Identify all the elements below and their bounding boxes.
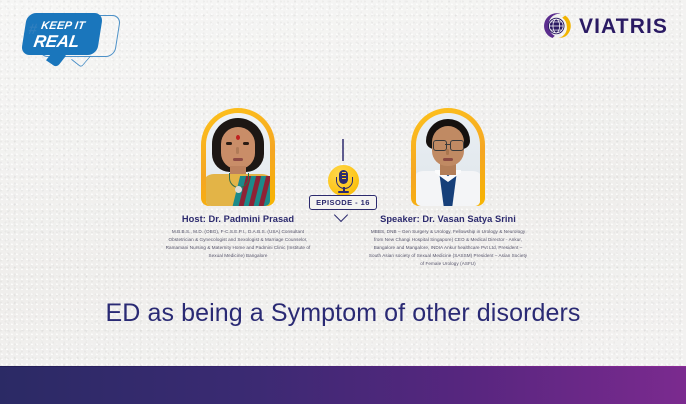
keep-it-real-text: # KEEP IT REAL: [21, 13, 104, 55]
speaker-credentials: MBBS, DNB – Gen Surgery & Urology, Fello…: [368, 228, 528, 267]
speaker-card: Speaker: Dr. Vasan Satya Srini MBBS, DNB…: [358, 108, 538, 268]
speaker-portrait-image: [416, 113, 480, 206]
keep-it-real-logo: # KEEP IT REAL: [16, 10, 126, 66]
speaker-photo: [411, 108, 485, 206]
microphone-base-icon: [338, 191, 349, 193]
presentation-slide: # KEEP IT REAL VIATRIS: [0, 0, 686, 404]
viatris-logo: VIATRIS: [542, 11, 668, 41]
host-portrait-image: [206, 113, 270, 206]
host-name: Host: Dr. Padmini Prasad: [148, 214, 328, 225]
keep-it-real-line-1: KEEP IT: [40, 21, 86, 32]
viatris-wordmark: VIATRIS: [579, 16, 668, 37]
host-card: Host: Dr. Padmini Prasad M.B.B.S., M.D. …: [148, 108, 328, 260]
badge-connector-line: [342, 139, 344, 161]
footer-bar: [0, 367, 686, 404]
globe-swoosh-icon: [542, 11, 572, 41]
keep-it-real-line-2: REAL: [32, 33, 80, 50]
speaker-name: Speaker: Dr. Vasan Satya Srini: [358, 214, 538, 225]
host-photo: [201, 108, 275, 206]
host-credentials: M.B.B.S., M.D. (OBG), F-C.S.E.P.I., D.A.…: [162, 228, 314, 260]
page-title: ED as being a Symptom of other disorders: [0, 300, 686, 328]
